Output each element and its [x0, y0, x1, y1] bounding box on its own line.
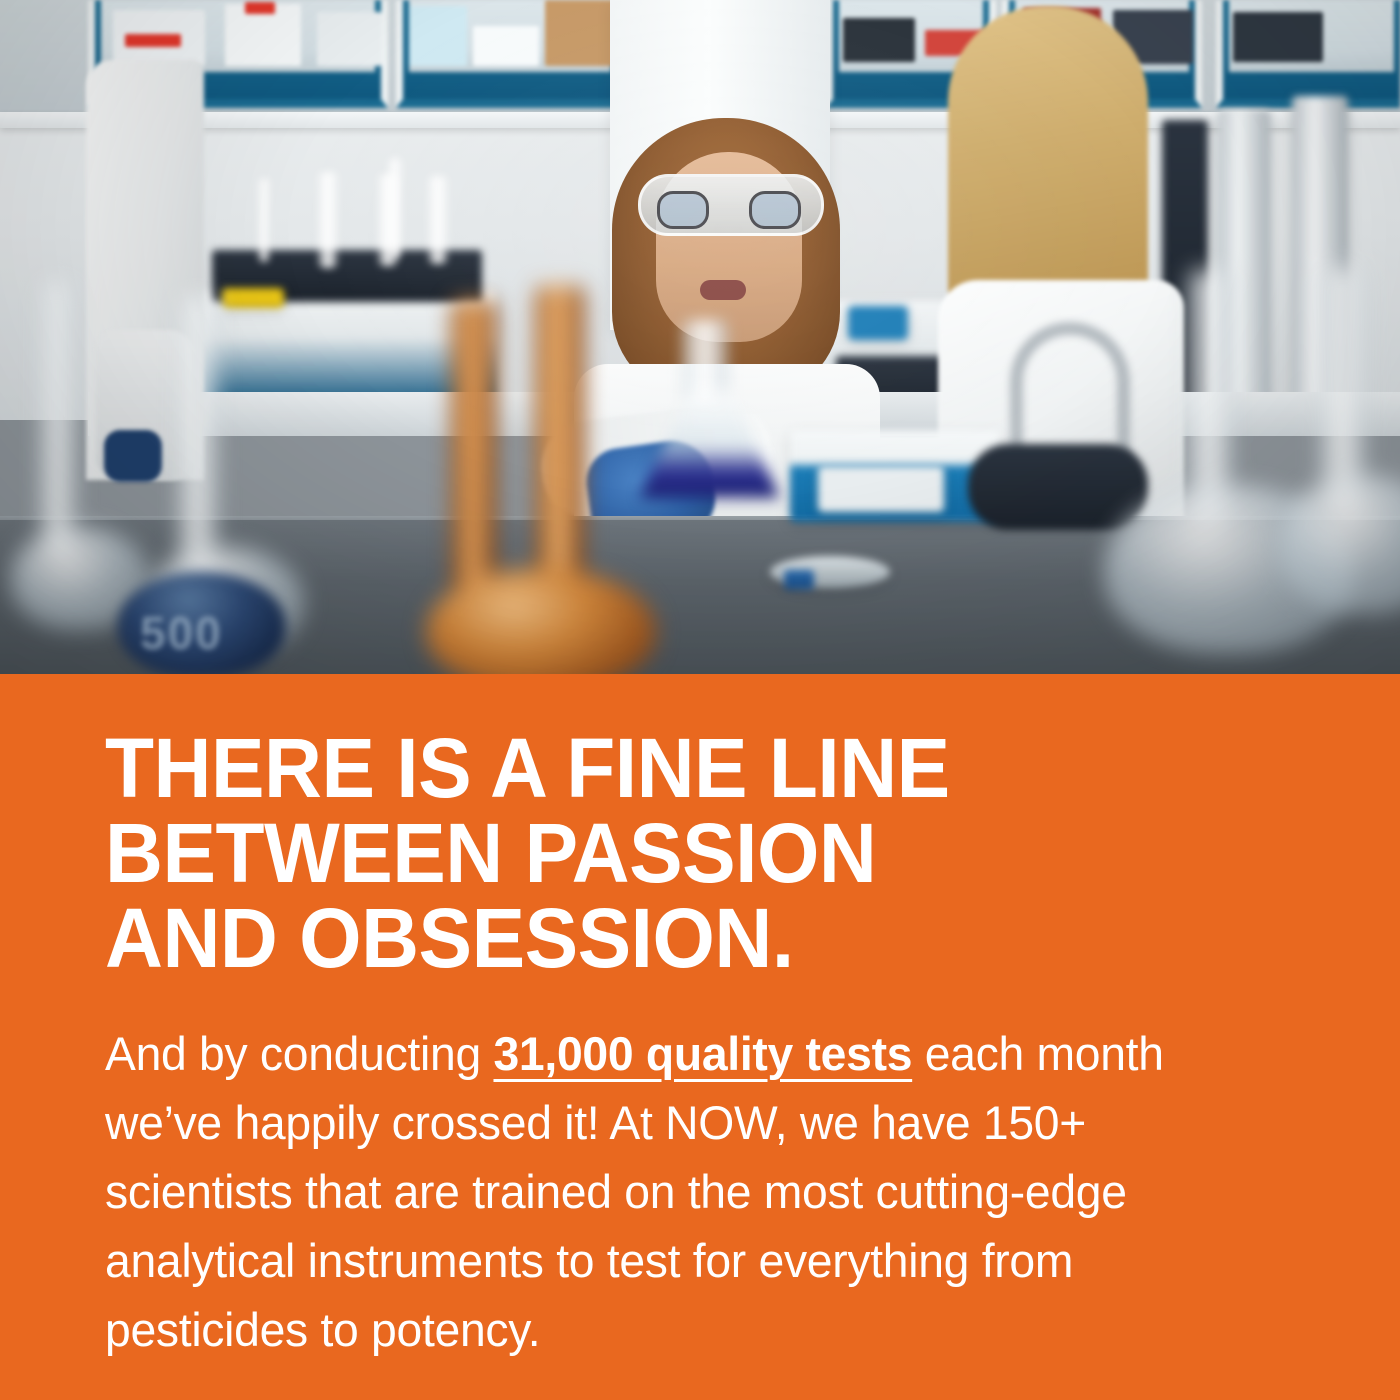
cabinet-label-red [245, 2, 275, 14]
flask-body-with-blue-liquid [640, 390, 780, 498]
instrument-yellow-strip [222, 288, 284, 308]
cabinet-center-left [396, 0, 624, 108]
safety-goggles-icon [638, 174, 824, 236]
scientist-mouth [700, 280, 746, 300]
cabinet-bottle [409, 6, 467, 66]
hero-photo: 500 [0, 0, 1400, 674]
goggles-lens-right [749, 191, 801, 229]
page-title: THERE IS A FINE LINE BETWEEN PASSION AND… [105, 726, 1237, 981]
cabinet-item [843, 18, 915, 62]
pipette [388, 158, 402, 258]
cabinet-item [1233, 12, 1323, 62]
copy-panel: THERE IS A FINE LINE BETWEEN PASSION AND… [0, 674, 1400, 1400]
cabinet-label-red [125, 34, 181, 47]
instrument-front-panel [818, 466, 944, 512]
clear-flask-neck [40, 282, 76, 552]
amber-flask-neck [452, 300, 496, 600]
blue-bottle-cap [784, 570, 814, 590]
poster-root: 500 THERE IS A FINE LINE BETWEEN PASSION… [0, 0, 1400, 1400]
goggles-lens-left [657, 191, 709, 229]
amber-flask-neck [536, 286, 584, 604]
body-text-before: And by conducting [105, 1027, 493, 1080]
flask-volume-label: 500 [140, 606, 223, 660]
background-person-glove [104, 430, 162, 482]
clear-flask-neck [178, 296, 218, 576]
cabinet-box [317, 12, 381, 66]
clear-flask-neck [1188, 270, 1232, 520]
clear-flask-neck [1320, 268, 1366, 508]
cabinet-carton [545, 0, 617, 66]
instrument-cable [968, 444, 1148, 530]
cabinet-item [473, 26, 539, 66]
pipette [318, 172, 338, 268]
body-paragraph: And by conducting 31,000 quality tests e… [105, 1019, 1272, 1364]
erlenmeyer-flask [640, 320, 790, 500]
lab-scene: 500 [0, 0, 1400, 674]
pipette [428, 176, 448, 264]
quality-tests-emphasis: 31,000 quality tests [493, 1027, 912, 1080]
pipette [258, 178, 270, 262]
cabinet-far-right [1216, 0, 1400, 108]
